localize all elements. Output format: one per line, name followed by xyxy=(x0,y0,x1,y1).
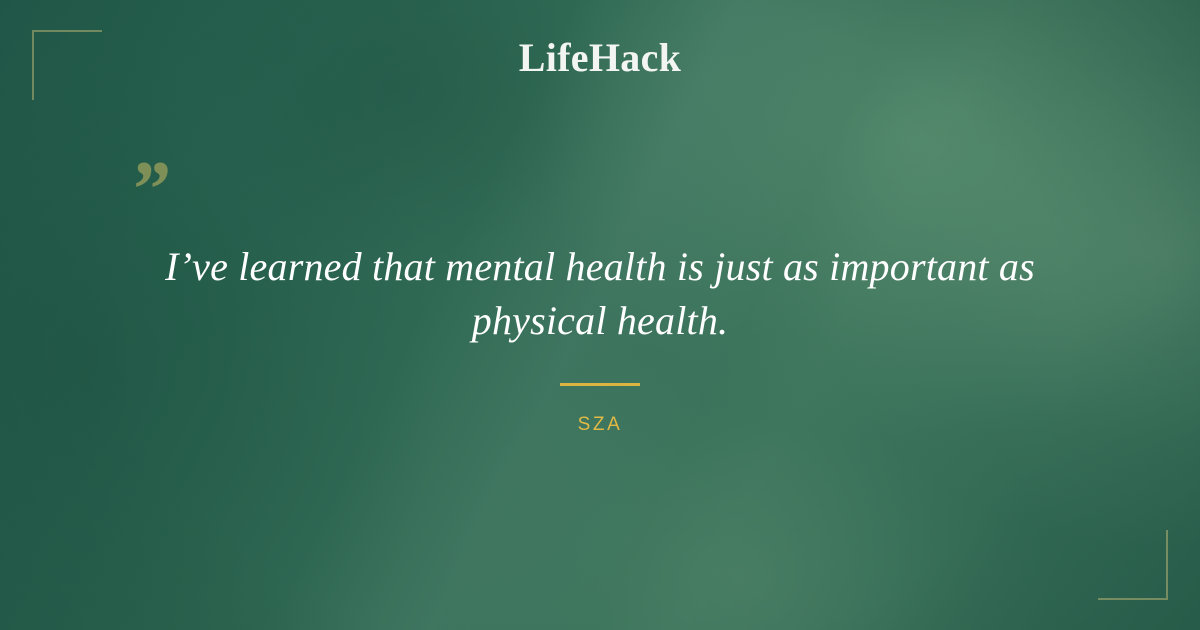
quote-card: LifeHack ” I’ve learned that mental heal… xyxy=(0,0,1200,630)
quote-block: I’ve learned that mental health is just … xyxy=(130,240,1070,347)
quote-line-2: physical health. xyxy=(130,294,1070,348)
quote-line-1: I’ve learned that mental health is just … xyxy=(130,240,1070,294)
quote-author: SZA xyxy=(0,414,1200,436)
attribution-divider xyxy=(560,383,640,386)
brand-logo[interactable]: LifeHack xyxy=(0,38,1200,78)
quotation-mark-icon: ” xyxy=(129,150,169,230)
corner-bracket-bottom-right-icon xyxy=(1098,530,1168,600)
